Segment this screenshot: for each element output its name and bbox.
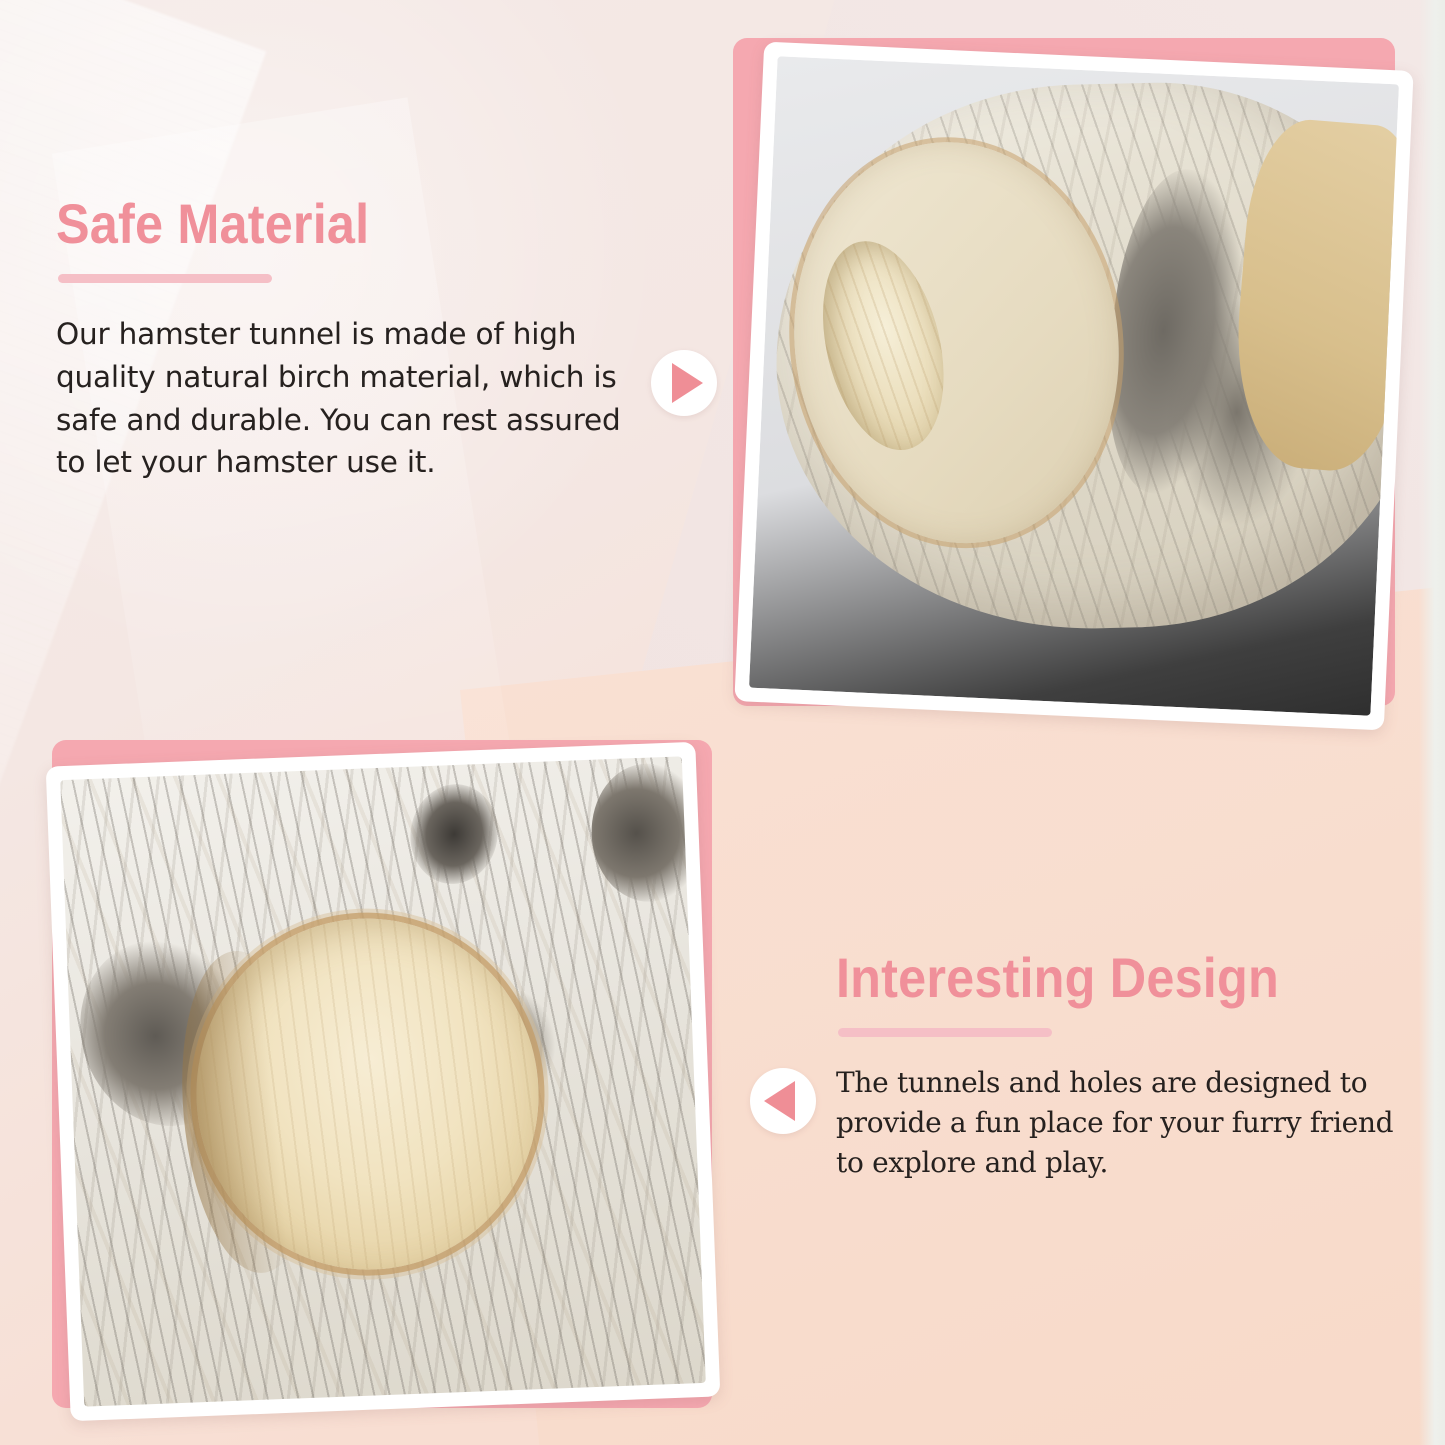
feature-block-safe-material: Safe Material Our hamster tunnel is made… [56,196,636,484]
background-edge-strip [1419,0,1445,1445]
log-tunnel-opening [805,229,965,463]
wood-grain [805,229,965,463]
heading-underline [838,1028,1052,1037]
product-photo-tunnel-end [749,56,1399,716]
feature-heading: Safe Material [56,196,578,252]
feature-body-text: The tunnels and holes are designed to pr… [836,1063,1396,1182]
arrow-left-icon [750,1068,816,1134]
product-photo-drilled-hole [60,756,706,1406]
heading-underline [58,274,272,283]
photo-card-safe-material [733,38,1395,706]
feature-body-text: Our hamster tunnel is made of high quali… [56,313,636,484]
feature-block-interesting-design: Interesting Design The tunnels and holes… [836,950,1396,1182]
triangle-glyph [672,363,703,403]
infographic-stage: Safe Material Our hamster tunnel is made… [0,0,1445,1445]
feature-heading: Interesting Design [836,950,1340,1006]
arrow-right-icon [651,350,717,416]
photo-frame [734,42,1413,731]
photo-frame [46,742,721,1421]
photo-card-interesting-design [52,740,712,1408]
triangle-glyph [764,1081,795,1121]
